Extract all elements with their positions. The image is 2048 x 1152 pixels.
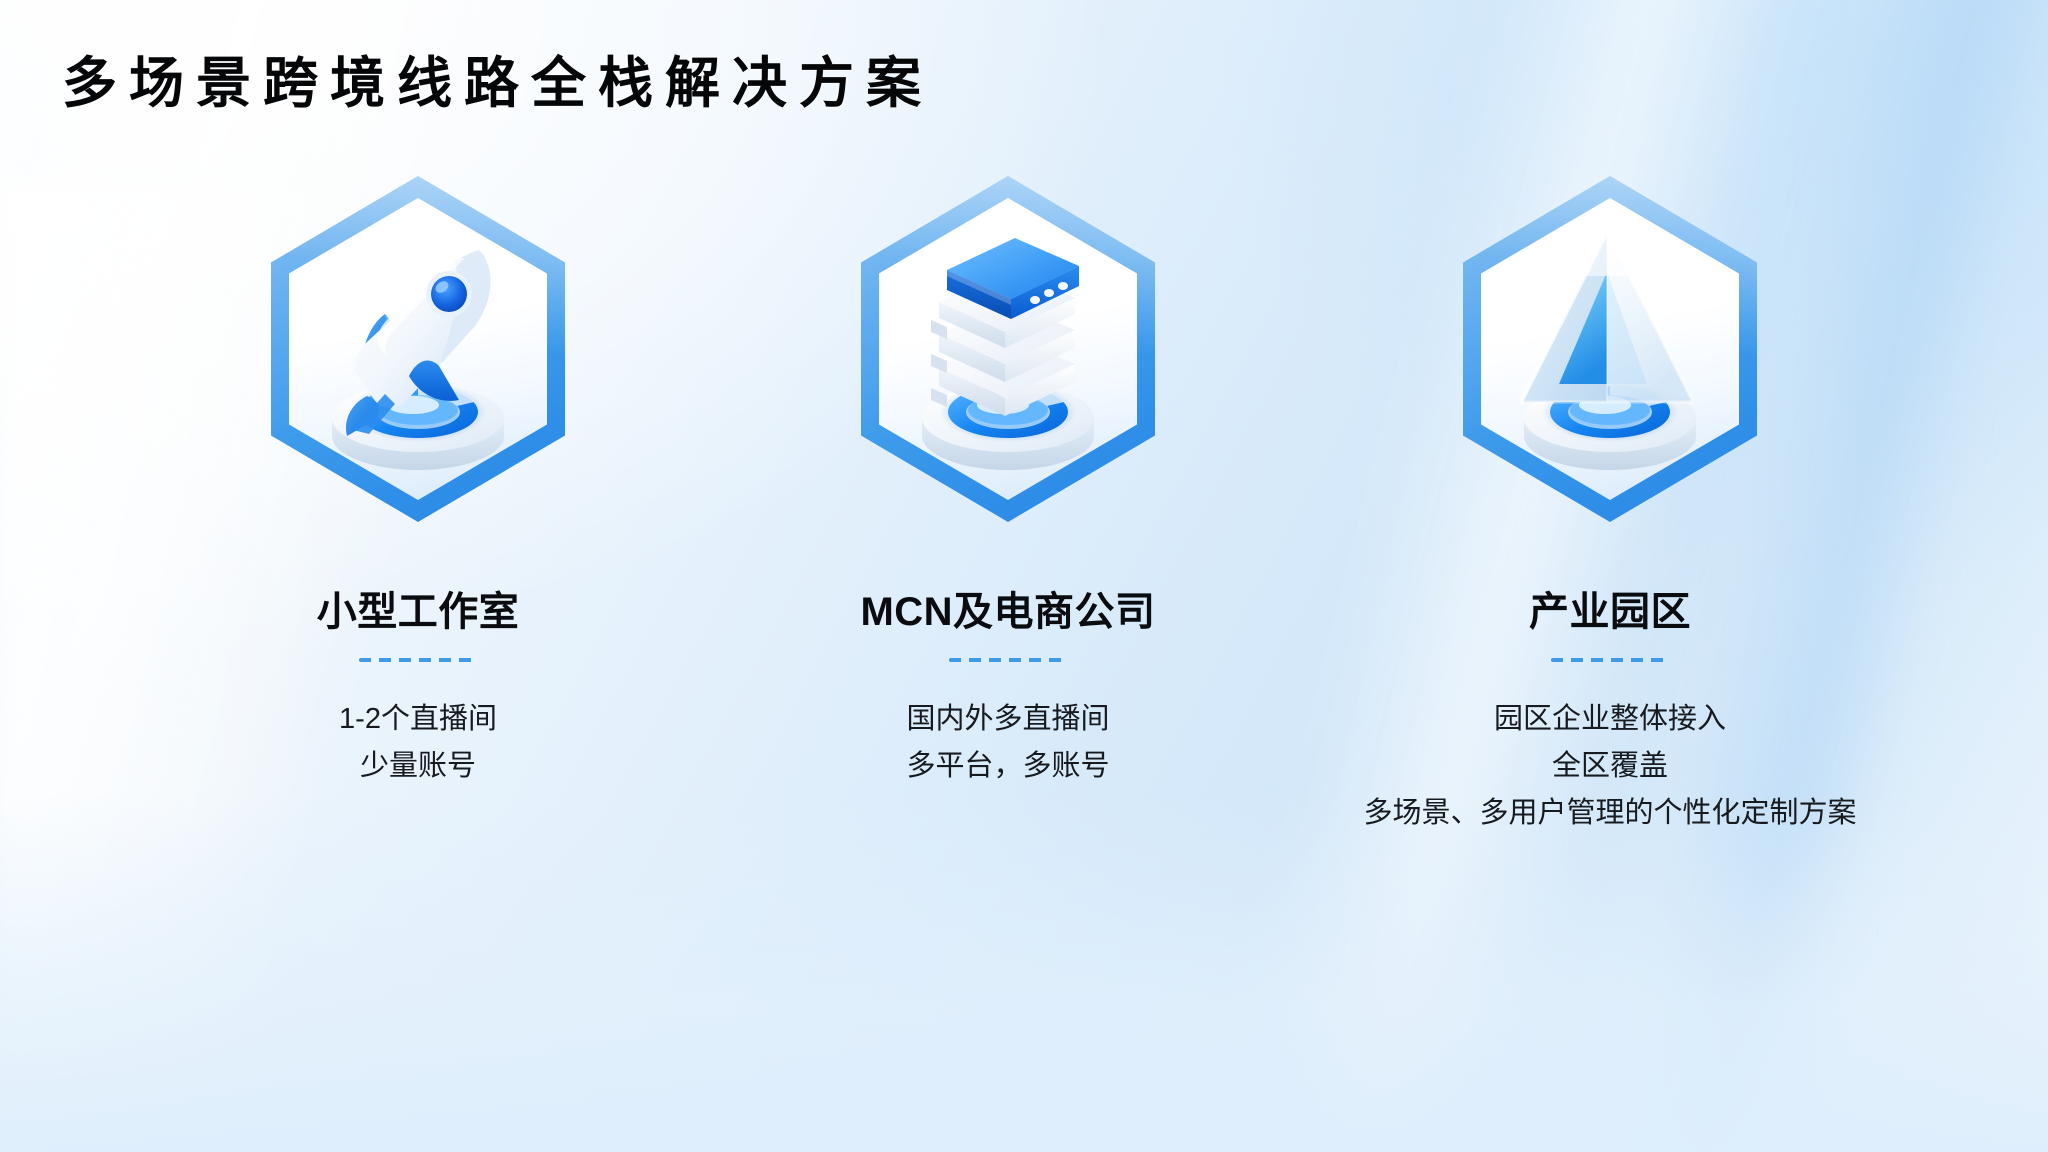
scenario-card-industrial-park[interactable]: 产业园区 园区企业整体接入 全区覆盖 多场景、多用户管理的个性化定制方案: [1300, 170, 1920, 837]
card-line: 少量账号: [339, 743, 497, 790]
card-body: 园区企业整体接入 全区覆盖 多场景、多用户管理的个性化定制方案: [1363, 696, 1856, 837]
card-title: 产业园区: [1529, 592, 1691, 632]
card-line: 国内外多直播间: [906, 696, 1109, 743]
card-line: 全区覆盖: [1363, 743, 1856, 790]
hexagon-badge: [843, 170, 1173, 540]
hexagon-badge: [253, 170, 583, 540]
page-title: 多场景跨境线路全栈解决方案: [62, 56, 933, 111]
rocket-icon: [289, 198, 547, 500]
dashed-divider: [359, 658, 477, 662]
dashed-divider: [1551, 658, 1669, 662]
card-line: 多场景、多用户管理的个性化定制方案: [1363, 790, 1856, 837]
scenario-card-small-studio[interactable]: 小型工作室 1-2个直播间 少量账号: [108, 170, 728, 790]
dashed-divider: [949, 658, 1067, 662]
hexagon-badge: [1445, 170, 1775, 540]
card-line: 园区企业整体接入: [1363, 696, 1856, 743]
card-title: MCN及电商公司: [860, 592, 1155, 632]
card-body: 1-2个直播间 少量账号: [339, 696, 497, 790]
pyramid-icon: [1481, 198, 1739, 500]
card-title: 小型工作室: [317, 592, 520, 632]
card-line: 1-2个直播间: [339, 696, 497, 743]
server-stack-icon: [879, 198, 1137, 500]
scenario-card-row: 小型工作室 1-2个直播间 少量账号: [0, 170, 2048, 1070]
card-line: 多平台，多账号: [906, 743, 1109, 790]
card-body: 国内外多直播间 多平台，多账号: [906, 696, 1109, 790]
scenario-card-mcn-ecommerce[interactable]: MCN及电商公司 国内外多直播间 多平台，多账号: [698, 170, 1318, 790]
